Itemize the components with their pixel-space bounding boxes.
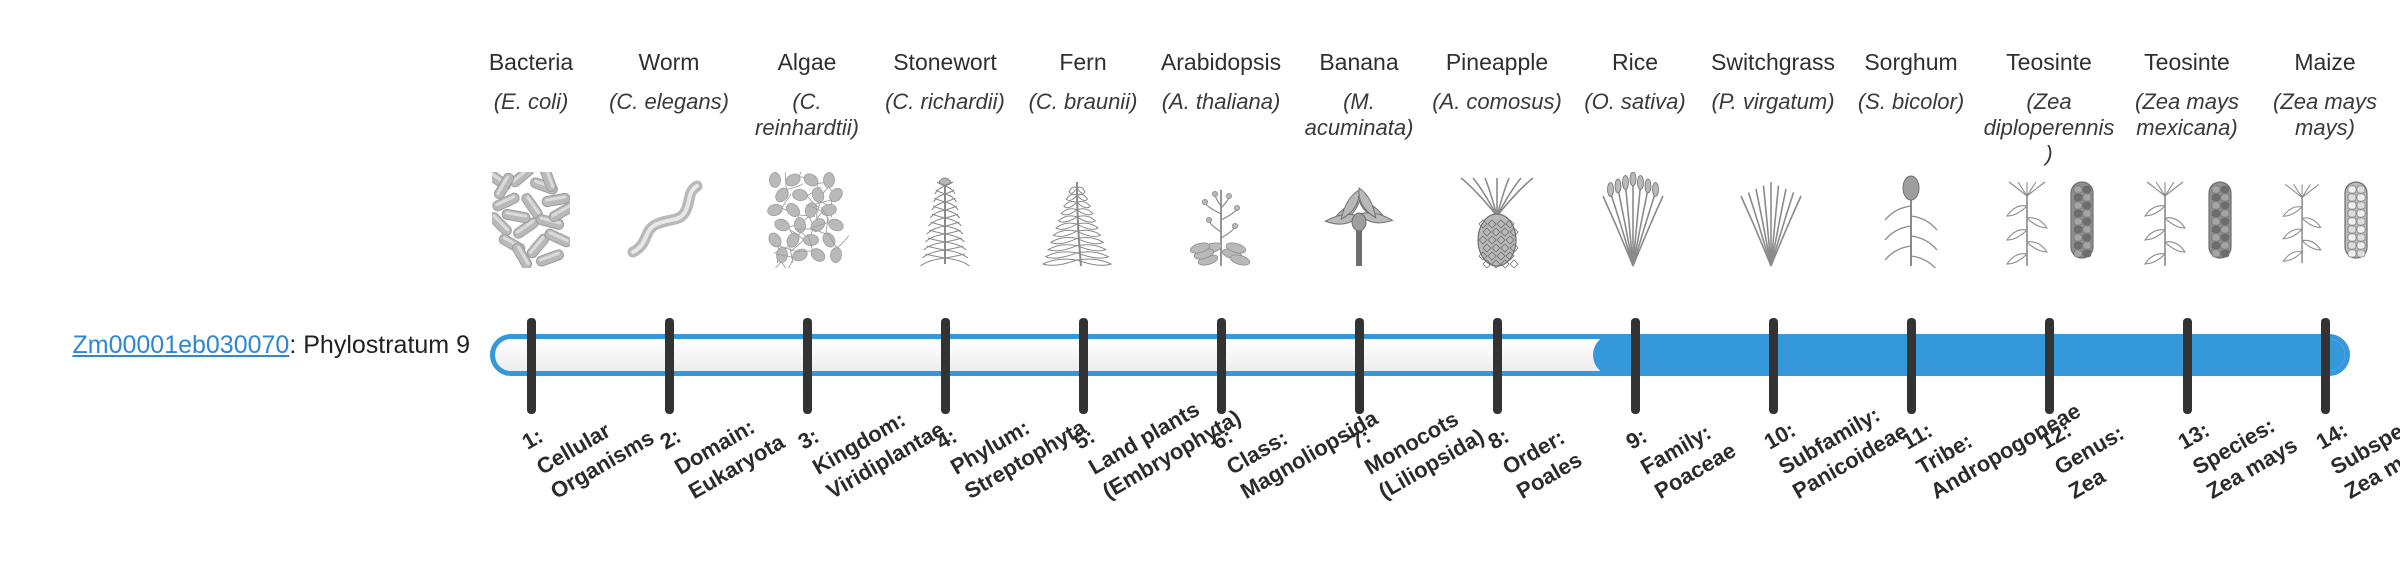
species-common-name: Arabidopsis (1152, 48, 1290, 77)
tick-mark-1 (527, 318, 536, 414)
species-column-3: Algae(C. reinhardtii) (738, 48, 876, 141)
species-scientific-name: (Zea diploperennis) (1980, 89, 2118, 167)
species-common-name: Rice (1566, 48, 1704, 77)
species-common-name: Algae (738, 48, 876, 77)
banana-tree-illustration (1290, 172, 1428, 268)
species-scientific-name: (S. bicolor) (1842, 89, 1980, 115)
species-scientific-name: (C. elegans) (600, 89, 738, 115)
species-scientific-name: (A. comosus) (1428, 89, 1566, 115)
phylostratum-chart: Zm00001eb030070: Phylostratum 9 Bacteria… (0, 0, 2400, 580)
gene-phylostratum-label: Zm00001eb030070: Phylostratum 9 (40, 330, 470, 360)
species-scientific-name: (Zea mays mays) (2256, 89, 2394, 141)
algae-cells-illustration (738, 172, 876, 268)
species-common-name: Switchgrass (1704, 48, 1842, 77)
species-scientific-name: (C. braunii) (1014, 89, 1152, 115)
species-scientific-name: (A. thaliana) (1152, 89, 1290, 115)
species-scientific-name: (Zea mays mexicana) (2118, 89, 2256, 141)
species-column-7: Banana(M. acuminata) (1290, 48, 1428, 141)
species-scientific-name: (C. reinhardtii) (738, 89, 876, 141)
species-column-5: Fern(C. braunii) (1014, 48, 1152, 115)
gene-id-link[interactable]: Zm00001eb030070 (72, 331, 289, 359)
species-column-4: Stonewort(C. richardii) (876, 48, 1014, 115)
bacteria-rods-illustration (462, 172, 600, 268)
species-column-8: Pineapple(A. comosus) (1428, 48, 1566, 115)
species-scientific-name: (M. acuminata) (1290, 89, 1428, 141)
species-column-10: Switchgrass(P. virgatum) (1704, 48, 1842, 115)
species-common-name: Bacteria (462, 48, 600, 77)
maize-plant-and-ear-illustration (2256, 172, 2394, 268)
species-column-9: Rice(O. sativa) (1566, 48, 1704, 115)
species-column-1: Bacteria(E. coli) (462, 48, 600, 115)
species-common-name: Banana (1290, 48, 1428, 77)
species-common-name: Teosinte (1980, 48, 2118, 77)
nematode-worm-illustration (600, 172, 738, 268)
species-scientific-name: (P. virgatum) (1704, 89, 1842, 115)
species-column-13: Teosinte(Zea mays mexicana) (2118, 48, 2256, 141)
teosinte-plant-and-ear-illustration (1980, 172, 2118, 268)
species-common-name: Pineapple (1428, 48, 1566, 77)
fern-frond-illustration (1014, 172, 1152, 268)
pineapple-illustration (1428, 172, 1566, 268)
species-scientific-name: (C. richardii) (876, 89, 1014, 115)
species-column-12: Teosinte(Zea diploperennis) (1980, 48, 2118, 167)
species-column-2: Worm(C. elegans) (600, 48, 738, 115)
stonewort-illustration (876, 172, 1014, 268)
arabidopsis-illustration (1152, 172, 1290, 268)
species-common-name: Stonewort (876, 48, 1014, 77)
species-common-name: Maize (2256, 48, 2394, 77)
species-column-14: Maize(Zea mays mays) (2256, 48, 2394, 141)
switchgrass-illustration (1704, 172, 1842, 268)
species-common-name: Worm (600, 48, 738, 77)
species-column-11: Sorghum(S. bicolor) (1842, 48, 1980, 115)
species-common-name: Fern (1014, 48, 1152, 77)
rice-plant-illustration (1566, 172, 1704, 268)
sorghum-illustration (1842, 172, 1980, 268)
teosinte-plant-and-ear-illustration (2118, 172, 2256, 268)
gene-phylostratum-value: Phylostratum 9 (303, 331, 470, 359)
gene-label-separator: : (289, 331, 303, 359)
species-column-6: Arabidopsis(A. thaliana) (1152, 48, 1290, 115)
species-scientific-name: (E. coli) (462, 89, 600, 115)
species-scientific-name: (O. sativa) (1566, 89, 1704, 115)
species-common-name: Teosinte (2118, 48, 2256, 77)
species-common-name: Sorghum (1842, 48, 1980, 77)
